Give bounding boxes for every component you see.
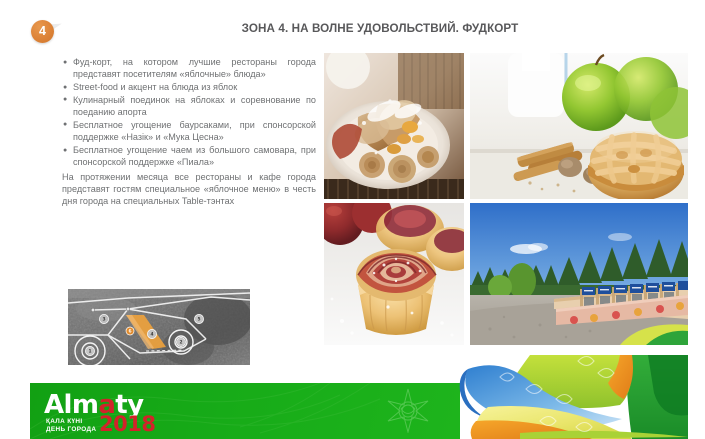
logo-year: 2018 (99, 414, 155, 435)
ribbon-ornament-icon (380, 355, 688, 439)
svg-text:1: 1 (88, 349, 91, 355)
list-item-label: Street-food и акцент на блюда из яблок (73, 82, 237, 92)
apple-pie-photo (470, 53, 688, 199)
slide-header: 4 ЗОНА 4. НА ВОЛНЕ УДОВОЛЬСТВИЙ. ФУДКОРТ (0, 0, 705, 48)
right-margin-mask (688, 383, 705, 439)
svg-text:4: 4 (150, 332, 153, 338)
bullet-icon: ● (63, 94, 67, 106)
list-item: ●Street-food и акцент на блюда из яблок (62, 81, 316, 93)
almaty-logo: Almaty ҚАЛА КҮНІ ДЕНЬ ГОРОДА 2018 (44, 392, 143, 418)
svg-text:2: 2 (179, 340, 182, 346)
zone-map-image: 1 2 3 4 5 6 (68, 289, 250, 365)
list-item-label: Фуд-корт, на котором лучшие рестораны го… (73, 57, 316, 79)
content-text-column: ●Фуд-корт, на котором лучшие рестораны г… (62, 56, 316, 208)
bullet-icon: ● (63, 119, 67, 131)
list-item-label: Бесплатное угощение чаем из большого сам… (73, 145, 316, 167)
page-title: ЗОНА 4. НА ВОЛНЕ УДОВОЛЬСТВИЙ. ФУДКОРТ (136, 21, 625, 35)
svg-text:3: 3 (102, 317, 105, 323)
apple-strudel-photo (324, 53, 464, 199)
slide-number-badge: 4 (31, 20, 54, 43)
list-item: ●Кулинарный поединок на яблоках и соревн… (62, 94, 316, 119)
food-court-stalls-photo (470, 203, 688, 345)
logo-tagline-ru: ДЕНЬ ГОРОДА (46, 426, 96, 434)
bullet-icon: ● (63, 145, 67, 157)
svg-text:6: 6 (128, 328, 131, 334)
presentation-slide: 4 ЗОНА 4. НА ВОЛНЕ УДОВОЛЬСТВИЙ. ФУДКОРТ… (0, 0, 705, 439)
list-item: ●Бесплатное угощение чаем из большого са… (62, 144, 316, 169)
logo-word-part1: Alm (44, 390, 98, 420)
photo-grid (324, 53, 688, 345)
content-paragraph: На протяжении месяца все рестораны и каф… (62, 171, 316, 208)
bullet-icon: ● (63, 57, 67, 69)
list-item: ●Бесплатное угощение баурсаками, при спо… (62, 119, 316, 144)
list-item-label: Бесплатное угощение баурсаками, при спон… (73, 120, 316, 142)
logo-tagline-kk: ҚАЛА КҮНІ (46, 418, 82, 426)
svg-text:5: 5 (197, 317, 200, 323)
slide-footer: Almaty ҚАЛА КҮНІ ДЕНЬ ГОРОДА 2018 (0, 383, 705, 439)
list-item: ●Фуд-корт, на котором лучшие рестораны г… (62, 56, 316, 81)
bullet-icon: ● (63, 82, 67, 94)
list-item-label: Кулинарный поединок на яблоках и соревно… (73, 95, 316, 117)
apple-rose-pastry-photo (324, 203, 464, 345)
